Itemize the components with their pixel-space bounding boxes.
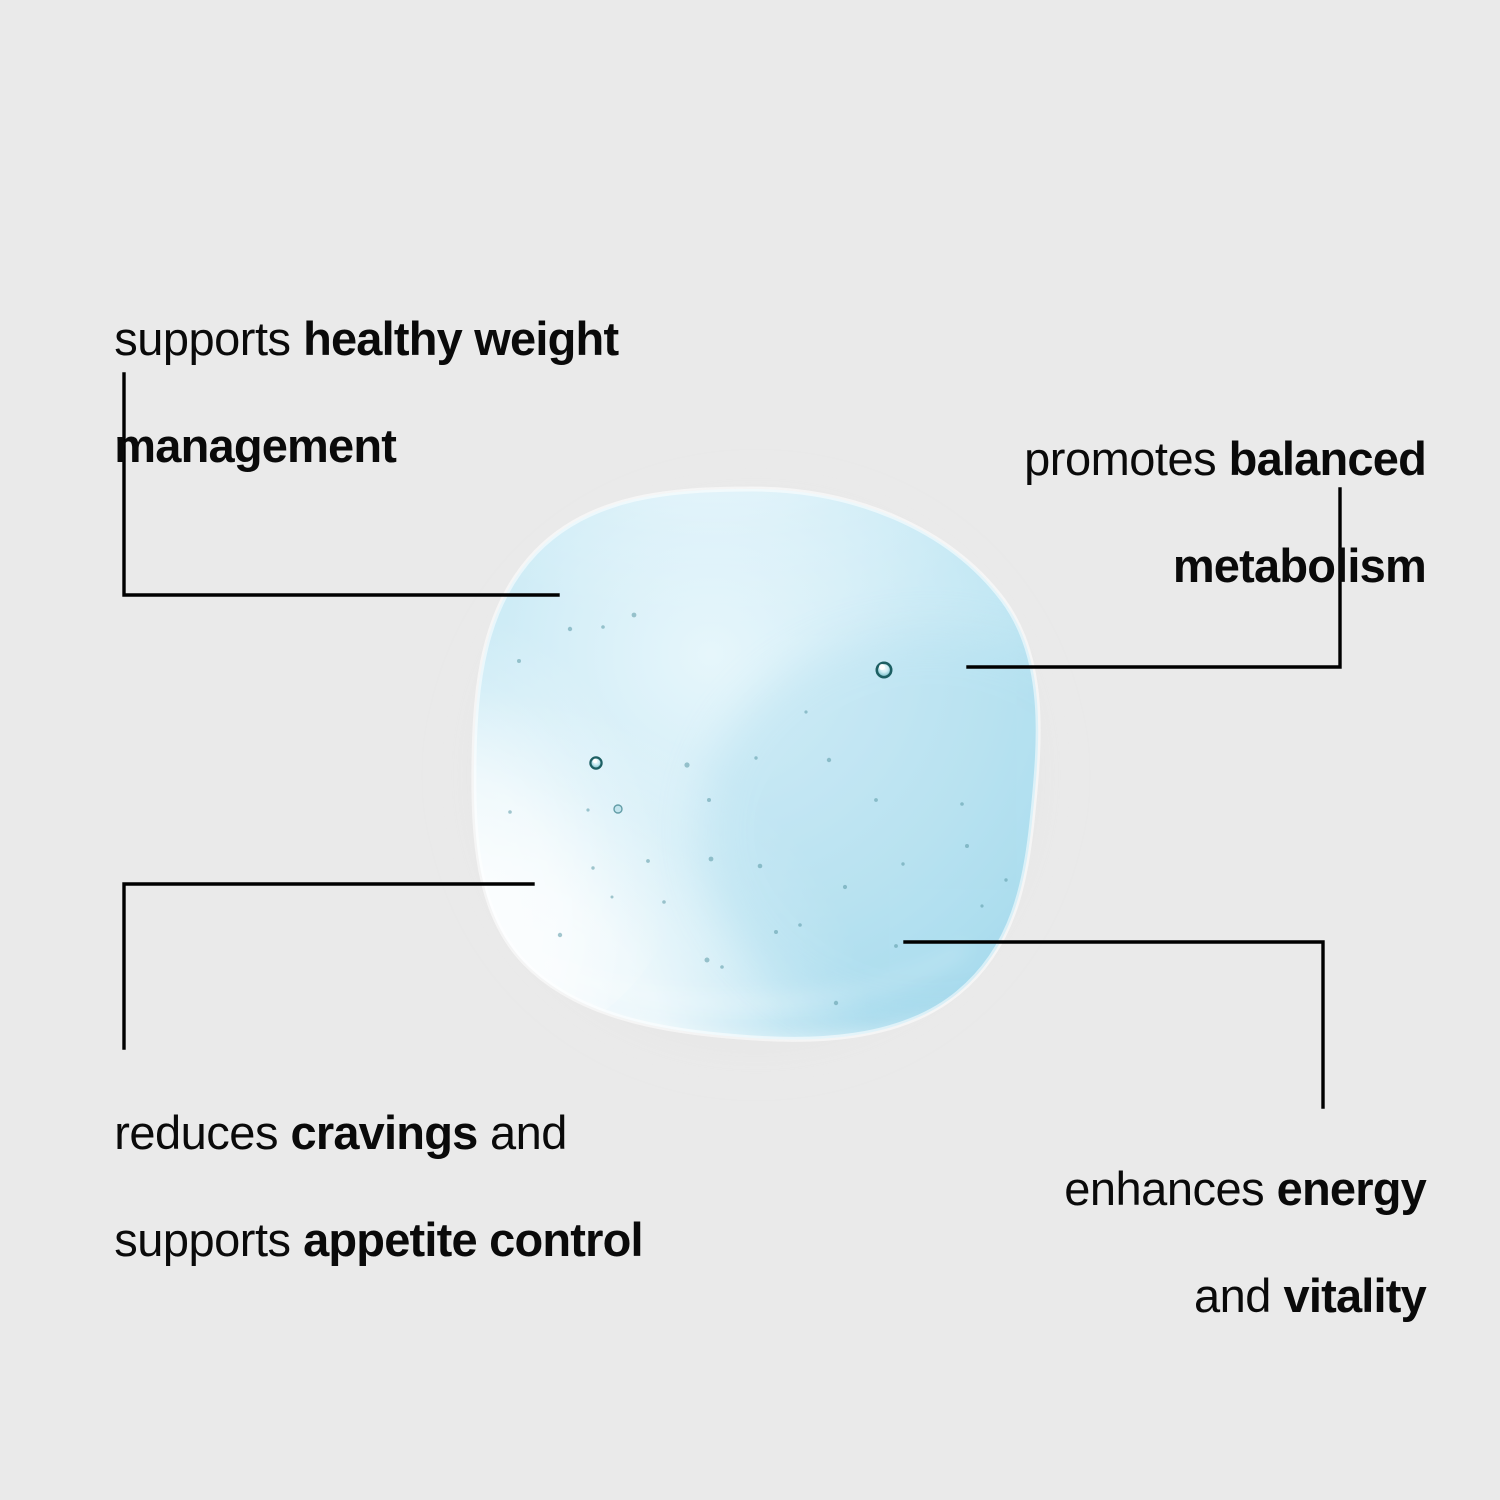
leader-line-bottom-left [124, 884, 533, 1048]
callout-enhances-energy: enhances energy and vitality [806, 1108, 1426, 1376]
infographic-canvas: supports healthy weight management promo… [0, 0, 1500, 1500]
callout-line: enhances energy [1064, 1162, 1426, 1215]
regular-text: and [477, 1106, 566, 1159]
callout-line: reduces cravings and [114, 1106, 567, 1159]
callout-healthy-weight-management: supports healthy weight management [64, 258, 764, 526]
emphasis-text: balanced [1229, 432, 1426, 485]
emphasis-text: healthy weight [303, 312, 618, 365]
callout-reduces-cravings: reduces cravings and supports appetite c… [64, 1052, 804, 1320]
emphasis-text: metabolism [1173, 539, 1426, 592]
emphasis-text: vitality [1284, 1269, 1427, 1322]
regular-text: supports [114, 312, 303, 365]
regular-text: supports [114, 1213, 303, 1266]
emphasis-text: management [114, 419, 396, 472]
callout-balanced-metabolism: promotes balanced metabolism [806, 378, 1426, 646]
callout-line: supports healthy weight [114, 312, 618, 365]
emphasis-text: energy [1277, 1162, 1426, 1215]
callout-line: management [114, 419, 396, 472]
callout-line: metabolism [1173, 539, 1426, 592]
regular-text: and [1194, 1269, 1283, 1322]
callout-line: supports appetite control [114, 1213, 643, 1266]
emphasis-text: appetite control [303, 1213, 643, 1266]
callout-line: promotes balanced [1024, 432, 1426, 485]
leader-line-bottom-right [905, 942, 1323, 1107]
regular-text: reduces [114, 1106, 290, 1159]
regular-text: promotes [1024, 432, 1228, 485]
callout-line: and vitality [1194, 1269, 1426, 1322]
emphasis-text: cravings [291, 1106, 478, 1159]
regular-text: enhances [1064, 1162, 1276, 1215]
